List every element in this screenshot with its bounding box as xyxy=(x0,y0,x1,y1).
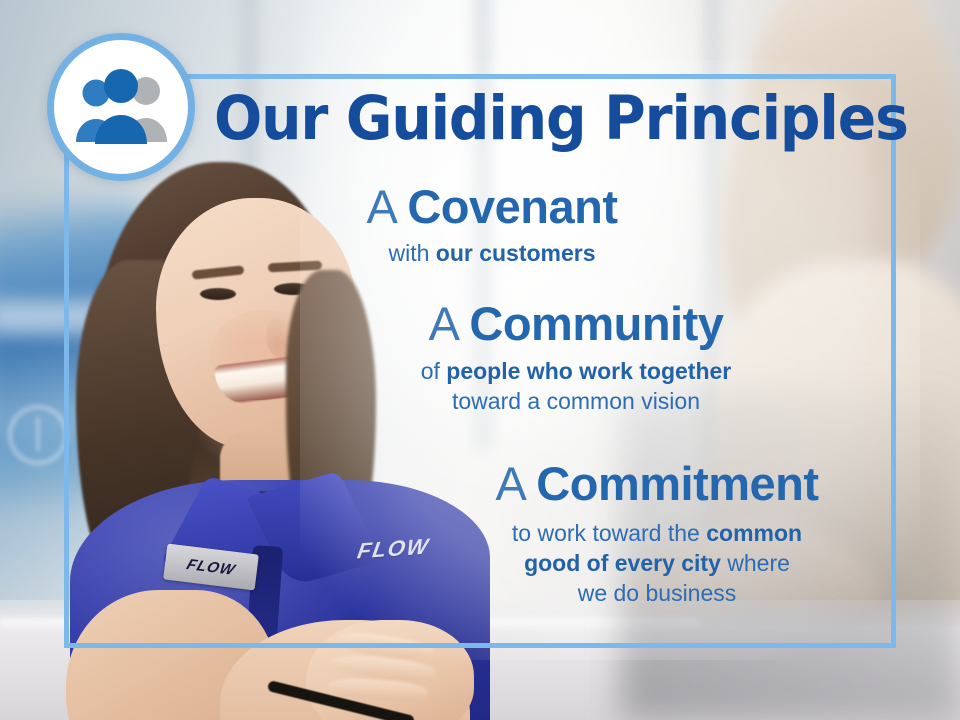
principle-community: A Community of people who work togethert… xyxy=(326,300,826,417)
guiding-principles-graphic: FLOW FLOW xyxy=(0,0,960,720)
principle-heading: A Covenant xyxy=(262,183,722,231)
principle-subtext: with our customers xyxy=(262,239,722,269)
principle-keyword: Covenant xyxy=(407,180,617,233)
principle-keyword: Community xyxy=(469,297,723,350)
principle-commitment: A Commitment to work toward the commongo… xyxy=(402,460,912,609)
principle-subtext: to work toward the commongood of every c… xyxy=(402,519,912,609)
principles-list: A Covenant with our customers A Communit… xyxy=(0,0,960,720)
principle-keyword: Commitment xyxy=(536,457,818,510)
principle-subtext: of people who work togethertoward a comm… xyxy=(326,357,826,417)
principle-covenant: A Covenant with our customers xyxy=(262,183,722,269)
principle-article: A xyxy=(429,297,470,350)
principle-heading: A Commitment xyxy=(402,460,912,508)
principle-heading: A Community xyxy=(326,300,826,348)
principle-article: A xyxy=(495,457,536,510)
principle-article: A xyxy=(367,180,408,233)
